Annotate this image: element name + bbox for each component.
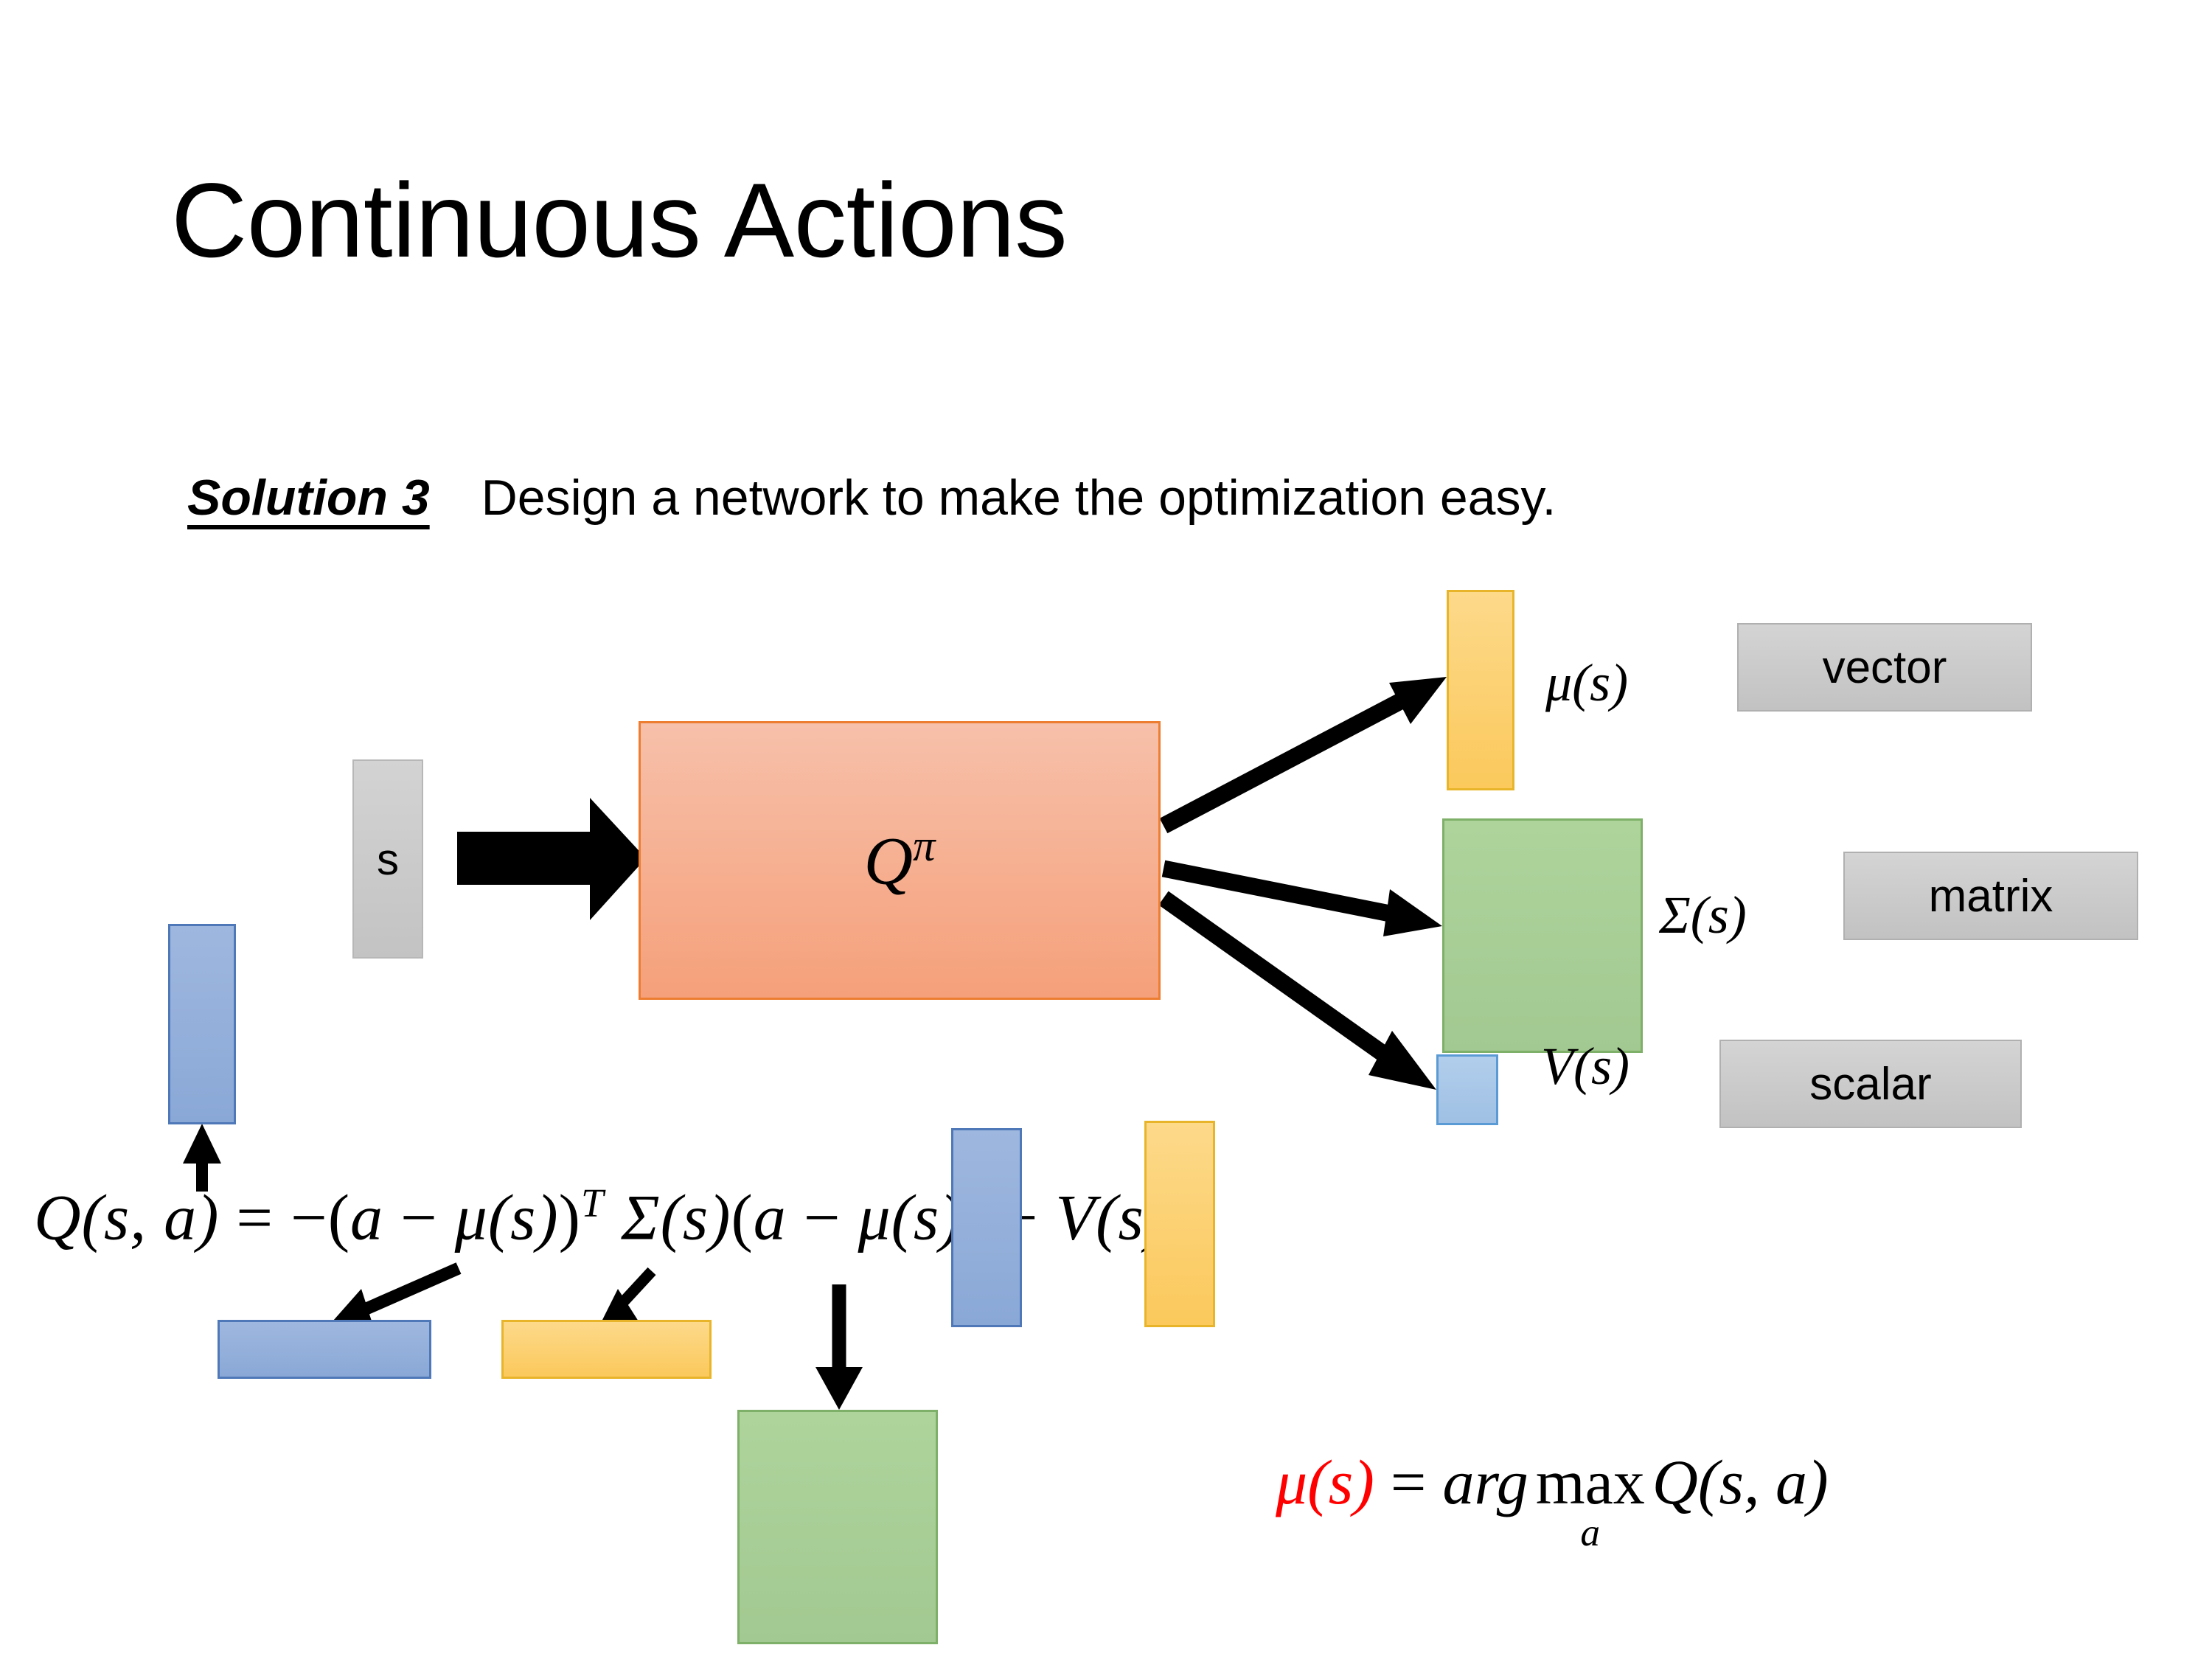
arrow-to-mu [1164,677,1447,826]
arrow-to-v [1164,898,1436,1090]
slide-canvas: Continuous Actions Solution 3 Design a n… [0,0,2212,1659]
argmax-max: max [1536,1453,1645,1513]
annotation-shape-blue-vector [168,924,236,1124]
argmax-arg: arg [1442,1445,1528,1519]
arrow-mu-to-yellow-wide [599,1271,652,1327]
output-label-sigma: Σ(s) [1659,885,1747,946]
argmax-equation: μ(s) = arg max a Q(s, a) [1276,1445,1829,1552]
equation-sigma-term: Σ(s) [621,1182,731,1253]
equation-minus: − [291,1182,328,1253]
equation-a-term: a [350,1182,383,1253]
annotation-shape-blue-row-vector [218,1320,431,1379]
highlight-bar-mu [1144,1121,1215,1327]
page-title: Continuous Actions [171,168,1067,274]
equation-open-paren-2: ( [731,1182,753,1253]
network-box-label-superscript: π [913,821,935,871]
legend-box-matrix: matrix [1843,852,2138,940]
argmax-equals: = [1391,1445,1427,1519]
equation-close-paren: ) [559,1182,581,1253]
solution-label: Solution 3 [187,469,430,526]
annotation-shape-yellow-row-vector [501,1320,712,1379]
output-label-v: V(s) [1541,1036,1630,1097]
legend-box-vector: vector [1737,623,2032,712]
equation-transpose: T [581,1180,604,1225]
network-box-label: Qπ [864,821,936,900]
legend-label-vector: vector [1823,641,1947,694]
equation-a-term-2: a [754,1182,787,1253]
arrow-to-sigma [1164,869,1442,936]
output-shape-matrix [1442,818,1643,1053]
output-label-mu: μ(s) [1545,653,1628,714]
legend-box-scalar: scalar [1719,1040,2022,1128]
equation-inner-minus-2: − [804,1182,841,1253]
argmax-q-term: Q(s, a) [1652,1445,1829,1519]
arrow-sigma-to-green [815,1284,863,1410]
equation-mu-term-2: μ(s) [858,1182,961,1253]
subtitle-row: Solution 3 Design a network to make the … [187,469,1556,526]
equation-open-paren: ( [328,1182,350,1253]
output-shape-scalar [1436,1054,1498,1125]
subtitle-text: Design a network to make the optimizatio… [481,469,1557,526]
equation-lhs: Q(s, a) [34,1182,219,1253]
argmax-subscript: a [1580,1513,1600,1552]
annotation-shape-green-matrix [737,1410,938,1644]
equation-inner-minus: − [400,1182,438,1253]
argmax-max-group: max a [1536,1453,1645,1552]
block-arrow-input [457,798,646,920]
highlight-bar-a [951,1128,1022,1327]
equation-equals: = [236,1182,274,1253]
legend-label-scalar: scalar [1809,1058,1931,1110]
network-box: Qπ [639,721,1161,1000]
legend-label-matrix: matrix [1929,870,2053,922]
output-shape-vector [1447,590,1514,790]
input-state-box: s [352,759,423,959]
network-box-label-base: Q [864,824,913,899]
input-state-label: s [377,834,399,885]
argmax-mu-term: μ(s) [1276,1445,1374,1519]
equation-mu-term: μ(s) [455,1182,559,1253]
